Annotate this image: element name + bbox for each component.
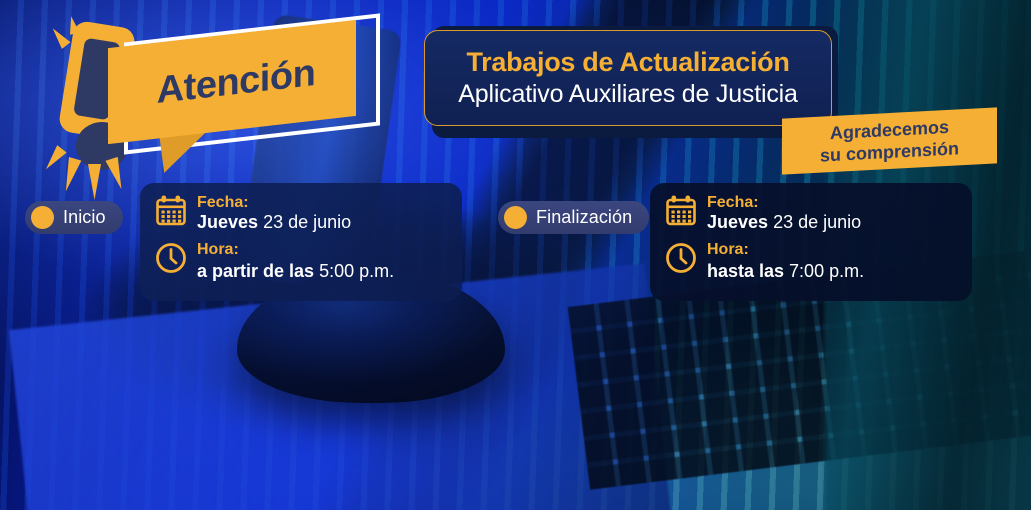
stage-pill-label: Inicio: [63, 207, 106, 228]
fecha-value: Jueves 23 de junio: [707, 212, 861, 234]
spark-icon: [48, 25, 70, 49]
update-notice-banner: Atención Trabajos de Actualización Aplic…: [0, 0, 1031, 510]
fecha-value-rest: 23 de junio: [258, 212, 351, 232]
bullet-dot-icon: [31, 206, 54, 229]
info-card-finalizacion: Fecha: Jueves 23 de junio Hora: hasta la…: [650, 183, 972, 301]
spark-icon: [41, 145, 66, 173]
fecha-label: Fecha:: [707, 195, 861, 212]
info-text: Fecha: Jueves 23 de junio: [707, 194, 861, 233]
info-row-fecha: Fecha: Jueves 23 de junio: [154, 194, 448, 233]
stage-pill-finalizacion: Finalización: [498, 201, 649, 234]
fecha-value-rest: 23 de junio: [768, 212, 861, 232]
info-row-hora: Hora: a partir de las 5:00 p.m.: [154, 241, 448, 282]
info-text: Hora: a partir de las 5:00 p.m.: [197, 241, 394, 282]
thanks-tag: Agradecemos su comprensión: [782, 107, 997, 174]
hora-value-bold: a partir de las: [197, 261, 314, 281]
hora-value-rest: 7:00 p.m.: [784, 261, 864, 281]
stage-pill-inicio: Inicio: [25, 201, 123, 234]
hora-label: Hora:: [197, 242, 394, 259]
clock-icon: [664, 241, 698, 275]
hora-value-bold: hasta las: [707, 261, 784, 281]
fecha-value-bold: Jueves: [197, 212, 258, 232]
info-text: Hora: hasta las 7:00 p.m.: [707, 241, 864, 282]
calendar-icon: [154, 194, 188, 228]
fecha-value-bold: Jueves: [707, 212, 768, 232]
title-secondary: Aplicativo Auxiliares de Justicia: [458, 80, 797, 109]
info-card-inicio: Fecha: Jueves 23 de junio Hora: a partir…: [140, 183, 462, 301]
hora-value: a partir de las 5:00 p.m.: [197, 261, 394, 283]
info-text: Fecha: Jueves 23 de junio: [197, 194, 351, 233]
clock-icon: [154, 241, 188, 275]
info-row-hora: Hora: hasta las 7:00 p.m.: [664, 241, 958, 282]
fecha-value: Jueves 23 de junio: [197, 212, 351, 234]
bullet-dot-icon: [504, 206, 527, 229]
stage-pill-label: Finalización: [536, 207, 632, 228]
title-plaque: Trabajos de Actualización Aplicativo Aux…: [424, 30, 832, 126]
calendar-icon: [664, 194, 698, 228]
spark-icon: [60, 157, 82, 193]
hora-label: Hora:: [707, 242, 864, 259]
spark-icon: [105, 157, 127, 191]
title-primary: Trabajos de Actualización: [466, 47, 789, 78]
info-row-fecha: Fecha: Jueves 23 de junio: [664, 194, 958, 233]
hora-value-rest: 5:00 p.m.: [314, 261, 394, 281]
hora-value: hasta las 7:00 p.m.: [707, 261, 864, 283]
fecha-label: Fecha:: [197, 195, 351, 212]
